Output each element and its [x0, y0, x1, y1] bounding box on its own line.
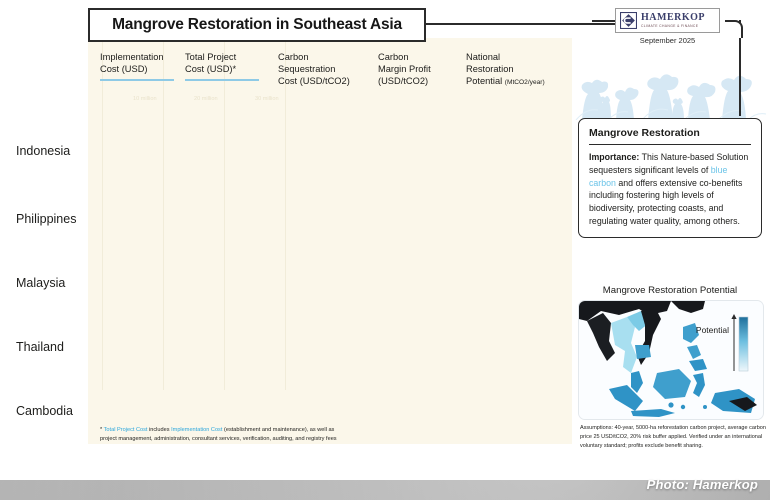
chart-panel: [88, 38, 572, 444]
assumptions-note: Assumptions: 40-year, 5000-ha reforestat…: [580, 424, 766, 451]
column-header-line3: Cost (USD/tCO2): [278, 76, 350, 86]
gridline: [163, 38, 164, 390]
info-label: Importance:: [589, 152, 639, 162]
info-title: Mangrove Restoration: [589, 127, 751, 139]
column-header-line1: Implementation: [100, 52, 164, 62]
logo-connector-corner: [725, 20, 743, 38]
page-title: Mangrove Restoration in Southeast Asia: [88, 8, 426, 42]
row-label-country: Indonesia: [0, 144, 84, 158]
southeast-asia-map[interactable]: Potential: [579, 301, 763, 419]
title-connector-line: [420, 23, 616, 25]
footnote-term-impl: Implementation Cost: [171, 427, 224, 433]
column-header-line2: Cost (USD)*: [185, 64, 236, 74]
axis-label-20m: 20 million: [194, 96, 218, 102]
column-header-implementation-cost: Implementation Cost (USD): [100, 52, 174, 81]
column-header-margin-profit: Carbon Margin Profit (USD/tCO2): [378, 52, 464, 88]
gridline: [224, 38, 225, 390]
axis-label-10m: 10 million: [133, 96, 157, 102]
column-header-line2: Restoration: [466, 64, 514, 74]
row-label-country: Cambodia: [0, 404, 84, 418]
footnote: * Total Project Cost includes Implementa…: [100, 426, 350, 444]
column-header-line2: Margin Profit: [378, 64, 431, 74]
column-header-line3: (USD/tCO2): [378, 76, 428, 86]
brand-tagline: CLIMATE CHANGE & FINANCE: [641, 25, 705, 28]
row-label-country: Thailand: [0, 340, 84, 354]
row-label-country: Philippines: [0, 212, 84, 226]
info-body: Importance: This Nature-based Solution s…: [589, 151, 751, 227]
page-title-text: Mangrove Restoration in Southeast Asia: [112, 16, 402, 34]
info-divider: [589, 144, 751, 145]
brand-logo: HAMERKOP CLIMATE CHANGE & FINANCE: [615, 8, 720, 33]
column-header-total-cost: Total Project Cost (USD)*: [185, 52, 259, 81]
column-header-line2: Cost (USD): [100, 64, 148, 74]
hamerkop-diamond-icon: [620, 12, 637, 29]
footnote-term-total: Total Project Cost: [102, 427, 149, 433]
column-header-unit: (MtCO2/year): [505, 79, 545, 86]
info-callout: Mangrove Restoration Importance: This Na…: [578, 118, 762, 238]
map-title: Mangrove Restoration Potential: [578, 285, 762, 296]
footnote-mid: includes: [149, 427, 171, 433]
header-underline: [185, 79, 259, 82]
column-header-line2: Sequestration: [278, 64, 335, 74]
logo-connector-left: [592, 20, 616, 22]
map-panel[interactable]: Potential: [578, 300, 764, 420]
publication-date: September 2025: [615, 36, 720, 45]
gridline: [285, 38, 286, 390]
brand-text: HAMERKOP CLIMATE CHANGE & FINANCE: [641, 13, 705, 28]
column-header-line1: National: [466, 52, 500, 62]
photo-credit: Photo: Hamerkop: [647, 477, 758, 492]
column-header-line1: Carbon: [378, 52, 409, 62]
brand-name: HAMERKOP: [641, 13, 705, 23]
infographic-card: Mangrove Restoration in Southeast Asia H…: [0, 0, 770, 480]
axis-label-30m: 30 million: [255, 96, 279, 102]
map-legend-label: Potential: [696, 325, 729, 335]
header-underline: [100, 79, 174, 82]
column-header-line1: Carbon: [278, 52, 309, 62]
column-header-restoration-potential: National Restoration Potential (MtCO2/ye…: [466, 52, 566, 88]
row-label-country: Malaysia: [0, 276, 84, 290]
column-header-sequestration-cost: Carbon Sequestration Cost (USD/tCO2): [278, 52, 370, 88]
column-header-line3: Potential: [466, 76, 505, 86]
gridline: [102, 38, 103, 390]
column-header-line1: Total Project: [185, 52, 236, 62]
